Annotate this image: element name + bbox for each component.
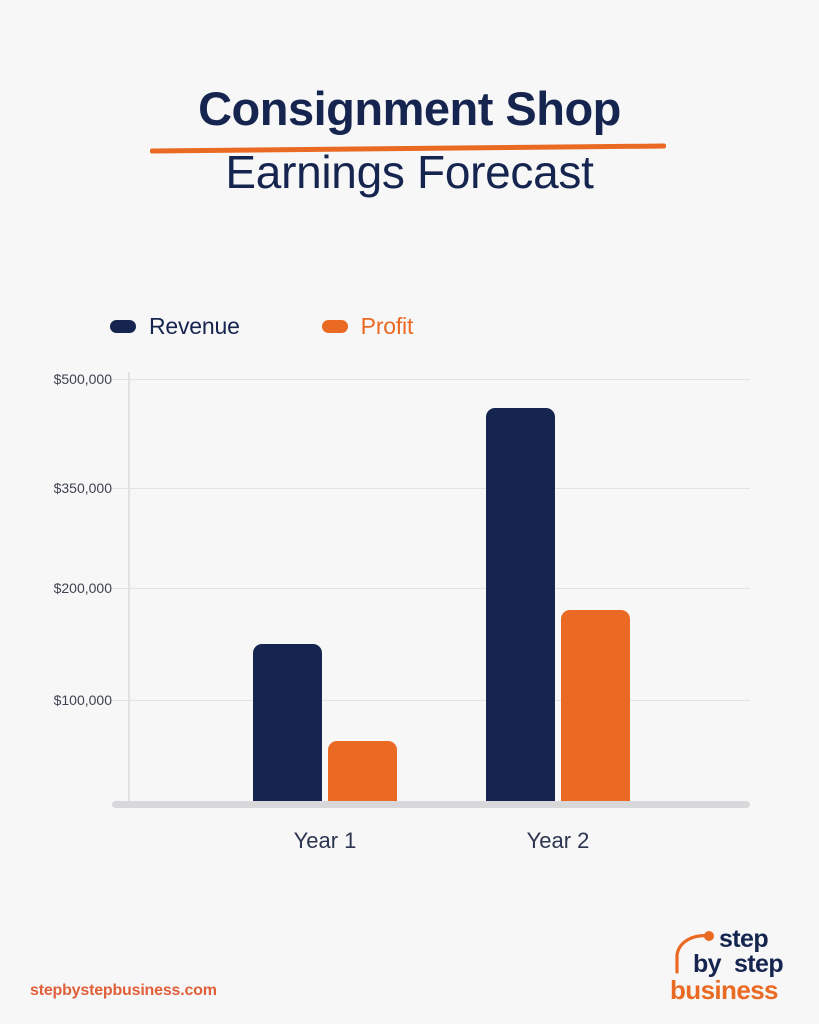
logo-text-business: business bbox=[670, 977, 778, 1003]
bar-revenue-year-2[interactable] bbox=[486, 408, 555, 803]
x-axis-tick-label: Year 1 bbox=[245, 828, 405, 854]
y-axis-line bbox=[128, 372, 130, 804]
logo-text-step-1: step bbox=[719, 927, 768, 952]
brand-logo[interactable]: step by step business bbox=[666, 925, 791, 1003]
y-axis-tick-label: $100,000 bbox=[12, 692, 112, 708]
bar-revenue-year-1[interactable] bbox=[253, 644, 322, 803]
gridline bbox=[112, 379, 750, 380]
logo-text-by: by bbox=[693, 952, 721, 977]
footer-website-url[interactable]: stepbystepbusiness.com bbox=[30, 982, 217, 1000]
y-axis-tick-label: $200,000 bbox=[12, 580, 112, 596]
x-axis-tick-label: Year 2 bbox=[478, 828, 638, 854]
bar-chart: $500,000$350,000$200,000$100,000 Year 1Y… bbox=[0, 0, 819, 1024]
y-axis-tick-label: $350,000 bbox=[12, 480, 112, 496]
gridline bbox=[112, 588, 750, 589]
logo-dot-icon bbox=[704, 931, 714, 941]
bar-profit-year-1[interactable] bbox=[328, 741, 397, 803]
gridline bbox=[112, 700, 750, 701]
logo-text-step-2: step bbox=[734, 952, 783, 977]
x-axis-line bbox=[112, 801, 750, 808]
bar-profit-year-2[interactable] bbox=[561, 610, 630, 803]
y-axis-tick-label: $500,000 bbox=[12, 371, 112, 387]
gridline bbox=[112, 488, 750, 489]
